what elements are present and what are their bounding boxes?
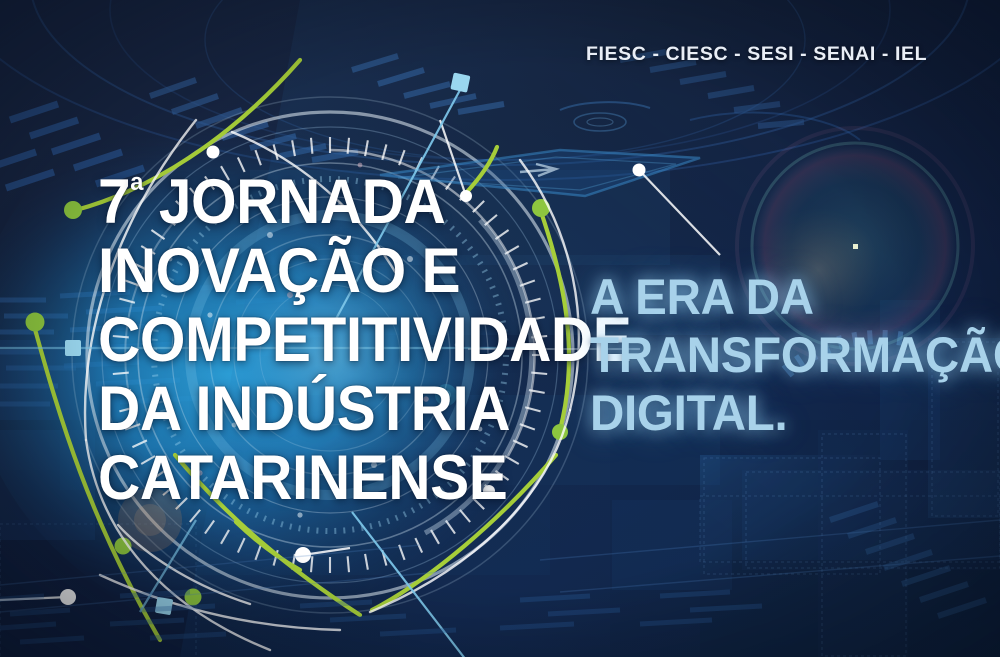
title-line-3: COMPETITIVIDADE [98,306,535,375]
subtitle-line-2: TRANSFORMAÇÃO [590,326,970,384]
brand-line: FIESC - CIESC - SESI - SENAI - IEL [586,43,927,66]
subtitle-line-1: A ERA DA [590,268,970,326]
event-title: 7ª JORNADA INOVAÇÃO E COMPETITIVIDADE DA… [98,168,568,513]
title-line-1: 7ª JORNADA [98,168,535,237]
title-line-2: INOVAÇÃO E [98,237,535,306]
title-line-1-rest: JORNADA [143,167,445,237]
title-line-5: CATARINENSE [98,444,535,513]
event-subtitle: A ERA DA TRANSFORMAÇÃO DIGITAL. [590,268,990,442]
title-ordinal-indicator: ª [130,169,143,212]
title-number: 7 [98,167,130,237]
title-line-4: DA INDÚSTRIA [98,375,535,444]
subtitle-line-3: DIGITAL. [590,384,970,442]
poster-canvas: FIESC - CIESC - SESI - SENAI - IEL 7ª JO… [0,0,1000,657]
